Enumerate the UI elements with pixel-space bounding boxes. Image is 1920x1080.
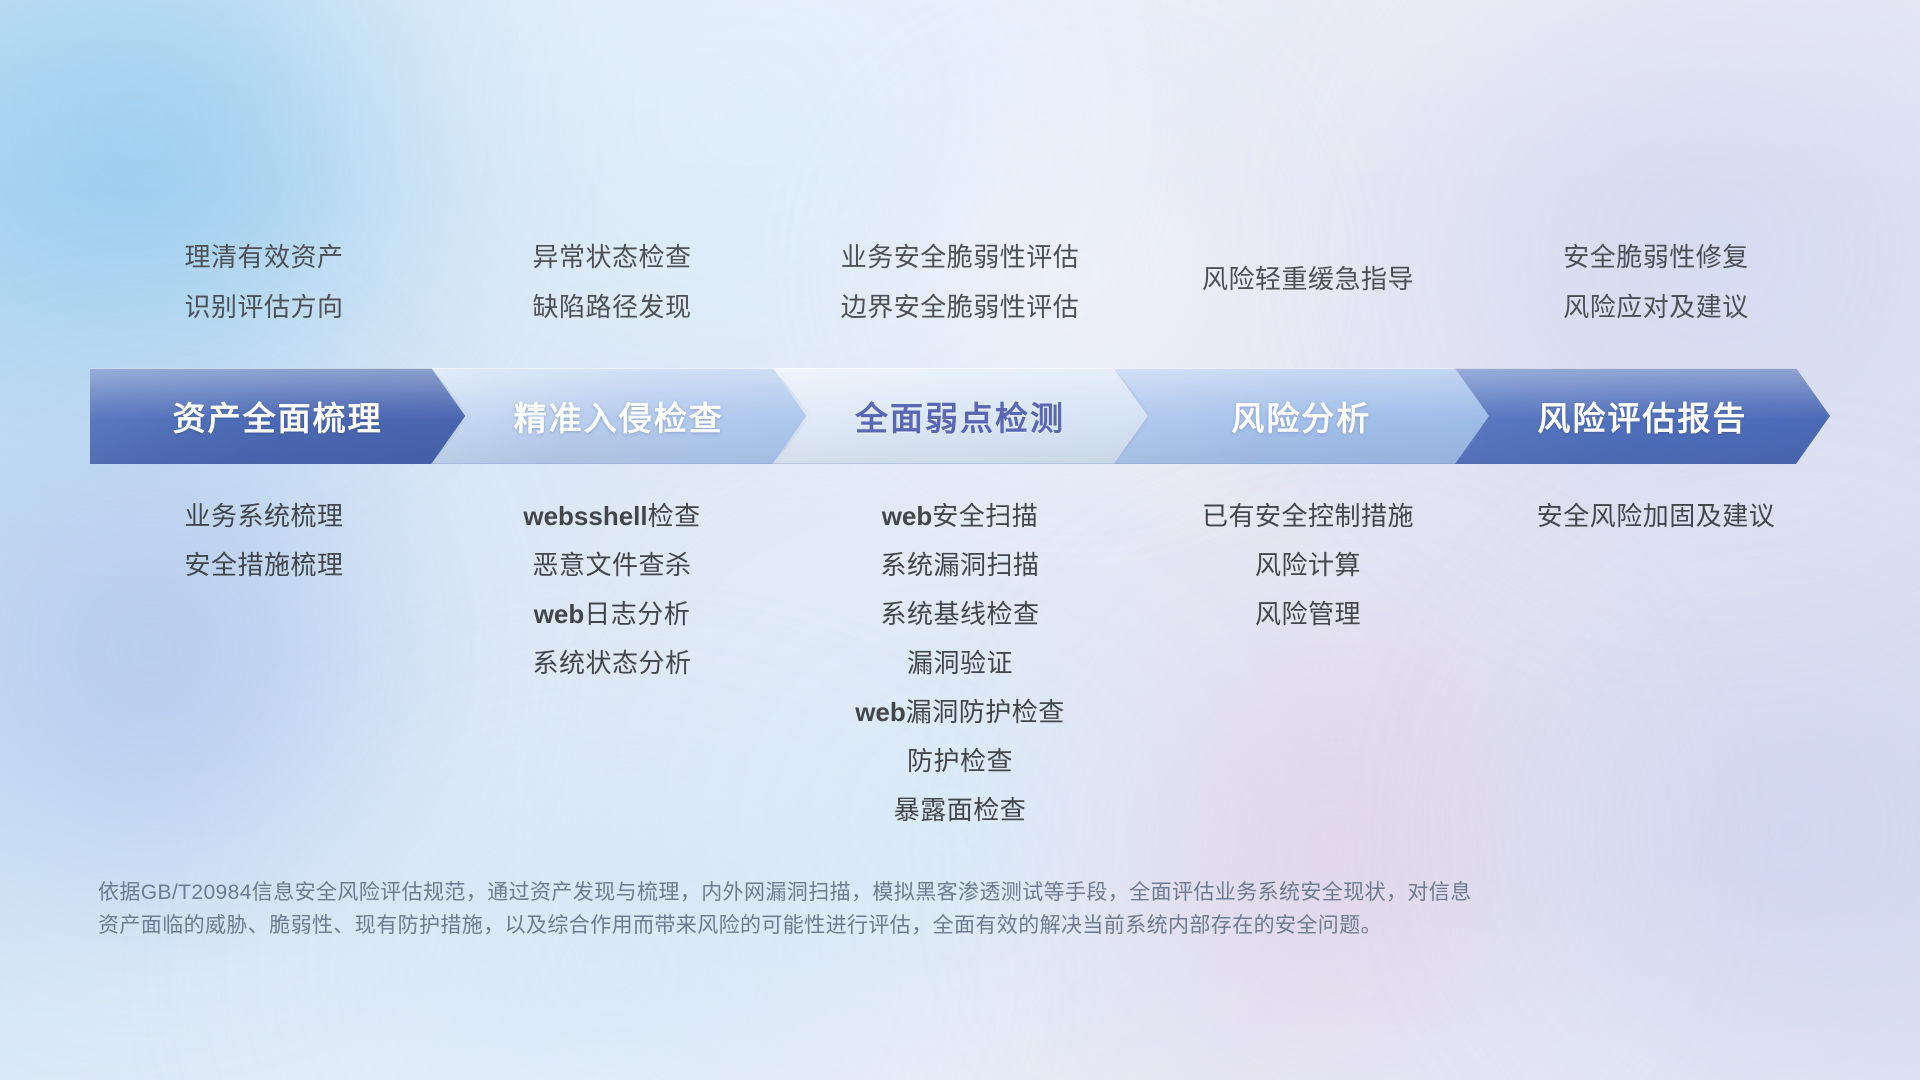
detail-item: 已有安全控制措施 [1134, 492, 1482, 541]
detail-item: 风险管理 [1134, 590, 1482, 639]
detail-item: 风险计算 [1134, 541, 1482, 590]
detail-item-latin: web [534, 599, 585, 629]
detail-item-latin: websshell [523, 501, 647, 531]
chevron-label: 风险评估报告 [1537, 392, 1747, 440]
detail-item: 暴露面检查 [786, 786, 1134, 835]
chevron-stage-intrusion-inspection[interactable]: 精准入侵检查 [431, 368, 806, 464]
top-label: 安全脆弱性修复 [1482, 232, 1830, 282]
detail-item-cjk: 安全扫描 [932, 501, 1038, 531]
top-label: 缺陷路径发现 [438, 282, 786, 332]
slide-stage: 理清有效资产识别评估方向异常状态检查缺陷路径发现业务安全脆弱性评估边界安全脆弱性… [0, 0, 1920, 1080]
top-labels-asset-inventory: 理清有效资产识别评估方向 [90, 232, 438, 332]
detail-item: 安全风险加固及建议 [1482, 492, 1830, 541]
top-labels-weakness-detection: 业务安全脆弱性评估边界安全脆弱性评估 [786, 232, 1134, 332]
detail-item: websshell检查 [438, 492, 786, 541]
footer-line-2: 资产面临的威胁、脆弱性、现有防护措施，以及综合作用而带来风险的可能性进行评估，全… [98, 909, 1618, 942]
chevron-stage-weakness-detection[interactable]: 全面弱点检测 [772, 368, 1147, 464]
detail-item: web漏洞防护检查 [786, 688, 1134, 737]
detail-item-cjk: 漏洞防护检查 [906, 697, 1065, 727]
chevron-stage-risk-analysis[interactable]: 风险分析 [1114, 368, 1489, 464]
chevron-stage-asset-inventory[interactable]: 资产全面梳理 [90, 368, 465, 464]
chevron-label: 风险分析 [1231, 392, 1371, 440]
process-chevron-band: 资产全面梳理精准入侵检查全面弱点检测风险分析风险评估报告 [90, 368, 1830, 464]
detail-item: web安全扫描 [786, 492, 1134, 541]
footer-description: 依据GB/T20984信息安全风险评估规范，通过资产发现与梳理，内外网漏洞扫描，… [98, 876, 1618, 942]
chevron-label: 资产全面梳理 [173, 392, 383, 440]
detail-item-latin: web [882, 501, 933, 531]
detail-item: 系统基线检查 [786, 590, 1134, 639]
detail-item: 系统漏洞扫描 [786, 541, 1134, 590]
detail-item: 业务系统梳理 [90, 492, 438, 541]
detail-item-cjk: 日志分析 [584, 599, 690, 629]
top-label: 风险轻重缓急指导 [1134, 254, 1482, 304]
detail-list-weakness-detection: web安全扫描系统漏洞扫描系统基线检查漏洞验证web漏洞防护检查防护检查暴露面检… [786, 492, 1134, 835]
footer-line-1: 依据GB/T20984信息安全风险评估规范，通过资产发现与梳理，内外网漏洞扫描，… [98, 876, 1618, 909]
top-label: 风险应对及建议 [1482, 282, 1830, 332]
stage-top-labels-row: 理清有效资产识别评估方向异常状态检查缺陷路径发现业务安全脆弱性评估边界安全脆弱性… [90, 232, 1830, 332]
detail-list-risk-report: 安全风险加固及建议 [1482, 492, 1830, 541]
detail-item-cjk: 检查 [648, 501, 701, 531]
chevron-stage-risk-report[interactable]: 风险评估报告 [1455, 368, 1830, 464]
detail-item: 系统状态分析 [438, 639, 786, 688]
detail-item: 安全措施梳理 [90, 541, 438, 590]
chevron-label: 精准入侵检查 [514, 392, 724, 440]
stage-detail-lists-row: 业务系统梳理安全措施梳理websshell检查恶意文件查杀web日志分析系统状态… [90, 492, 1830, 835]
chevron-label: 全面弱点检测 [855, 392, 1065, 440]
detail-item: web日志分析 [438, 590, 786, 639]
top-labels-intrusion-inspection: 异常状态检查缺陷路径发现 [438, 232, 786, 332]
detail-list-intrusion-inspection: websshell检查恶意文件查杀web日志分析系统状态分析 [438, 492, 786, 688]
detail-item: 恶意文件查杀 [438, 541, 786, 590]
top-label: 业务安全脆弱性评估 [786, 232, 1134, 282]
detail-item: 防护检查 [786, 737, 1134, 786]
top-labels-risk-report: 安全脆弱性修复风险应对及建议 [1482, 232, 1830, 332]
top-label: 边界安全脆弱性评估 [786, 282, 1134, 332]
top-label: 理清有效资产 [90, 232, 438, 282]
detail-item-latin: web [855, 697, 906, 727]
top-label: 识别评估方向 [90, 282, 438, 332]
detail-list-risk-analysis: 已有安全控制措施风险计算风险管理 [1134, 492, 1482, 639]
top-labels-risk-analysis: 风险轻重缓急指导 [1134, 254, 1482, 332]
top-label: 异常状态检查 [438, 232, 786, 282]
detail-list-asset-inventory: 业务系统梳理安全措施梳理 [90, 492, 438, 590]
detail-item: 漏洞验证 [786, 639, 1134, 688]
